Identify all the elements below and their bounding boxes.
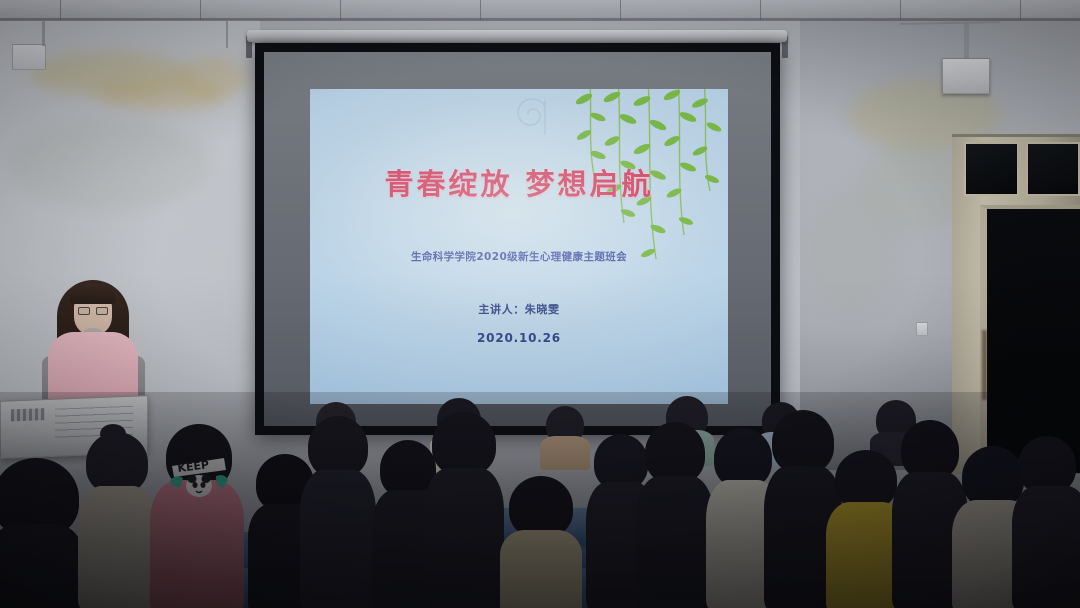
student-silhouette: [540, 406, 590, 466]
wall-conduit: [226, 20, 228, 48]
student-silhouette-keep-hoodie: KEEP: [150, 424, 244, 608]
projection-screen-roller: [247, 30, 787, 42]
transom-pane: [964, 142, 1019, 196]
student-silhouette: [500, 476, 582, 608]
projection-screen-frame: 青春绽放 梦想启航 生命科学学院2020级新生心理健康主题班会 主讲人：朱晓雯 …: [255, 43, 780, 435]
glasses-icon: [78, 307, 108, 315]
slide-subtitle: 生命科学学院2020级新生心理健康主题班会: [310, 249, 728, 264]
ceiling-tile-line: [620, 0, 621, 20]
wall-outlet[interactable]: [916, 322, 928, 336]
ceiling: [0, 0, 1080, 20]
audience: KEEP: [0, 392, 1080, 608]
wall-switch-box[interactable]: [12, 44, 46, 70]
student-silhouette: [424, 412, 504, 608]
student-silhouette: [0, 458, 82, 608]
speaker-mount-stem: [964, 22, 969, 60]
student-silhouette: [78, 432, 156, 608]
slide-date: 2020.10.26: [310, 331, 728, 345]
transom-pane: [1026, 142, 1080, 196]
wall-conduit: [42, 20, 45, 46]
ceiling-tile-line: [760, 0, 761, 20]
classroom-photo-scene: 青春绽放 梦想启航 生命科学学院2020级新生心理健康主题班会 主讲人：朱晓雯 …: [0, 0, 1080, 608]
student-silhouette: [300, 416, 376, 608]
ceiling-tile-line: [480, 0, 481, 20]
ceiling-edge: [0, 18, 1080, 21]
student-silhouette: [636, 422, 714, 608]
slide-title: 青春绽放 梦想启航: [310, 161, 728, 203]
wall-speaker: [942, 58, 990, 94]
projected-slide: 青春绽放 梦想启航 生命科学学院2020级新生心理健康主题班会 主讲人：朱晓雯 …: [310, 89, 728, 404]
ceiling-tile-line: [900, 0, 901, 20]
student-silhouette: [1012, 436, 1080, 608]
door-transom-windows: [964, 142, 1080, 196]
presenter-fringe: [70, 284, 116, 304]
ceiling-tile-line: [340, 0, 341, 20]
ceiling-tile-line: [60, 0, 61, 20]
projection-screen-surface: 青春绽放 梦想启航 生命科学学院2020级新生心理健康主题班会 主讲人：朱晓雯 …: [264, 52, 771, 426]
slide-speaker: 主讲人：朱晓雯: [310, 301, 728, 317]
ceiling-tile-line: [1020, 0, 1021, 20]
ceiling-tile-line: [200, 0, 201, 20]
door-jamb-scuff: [982, 330, 987, 400]
keep-panda-graphic-icon: KEEP: [168, 450, 230, 498]
